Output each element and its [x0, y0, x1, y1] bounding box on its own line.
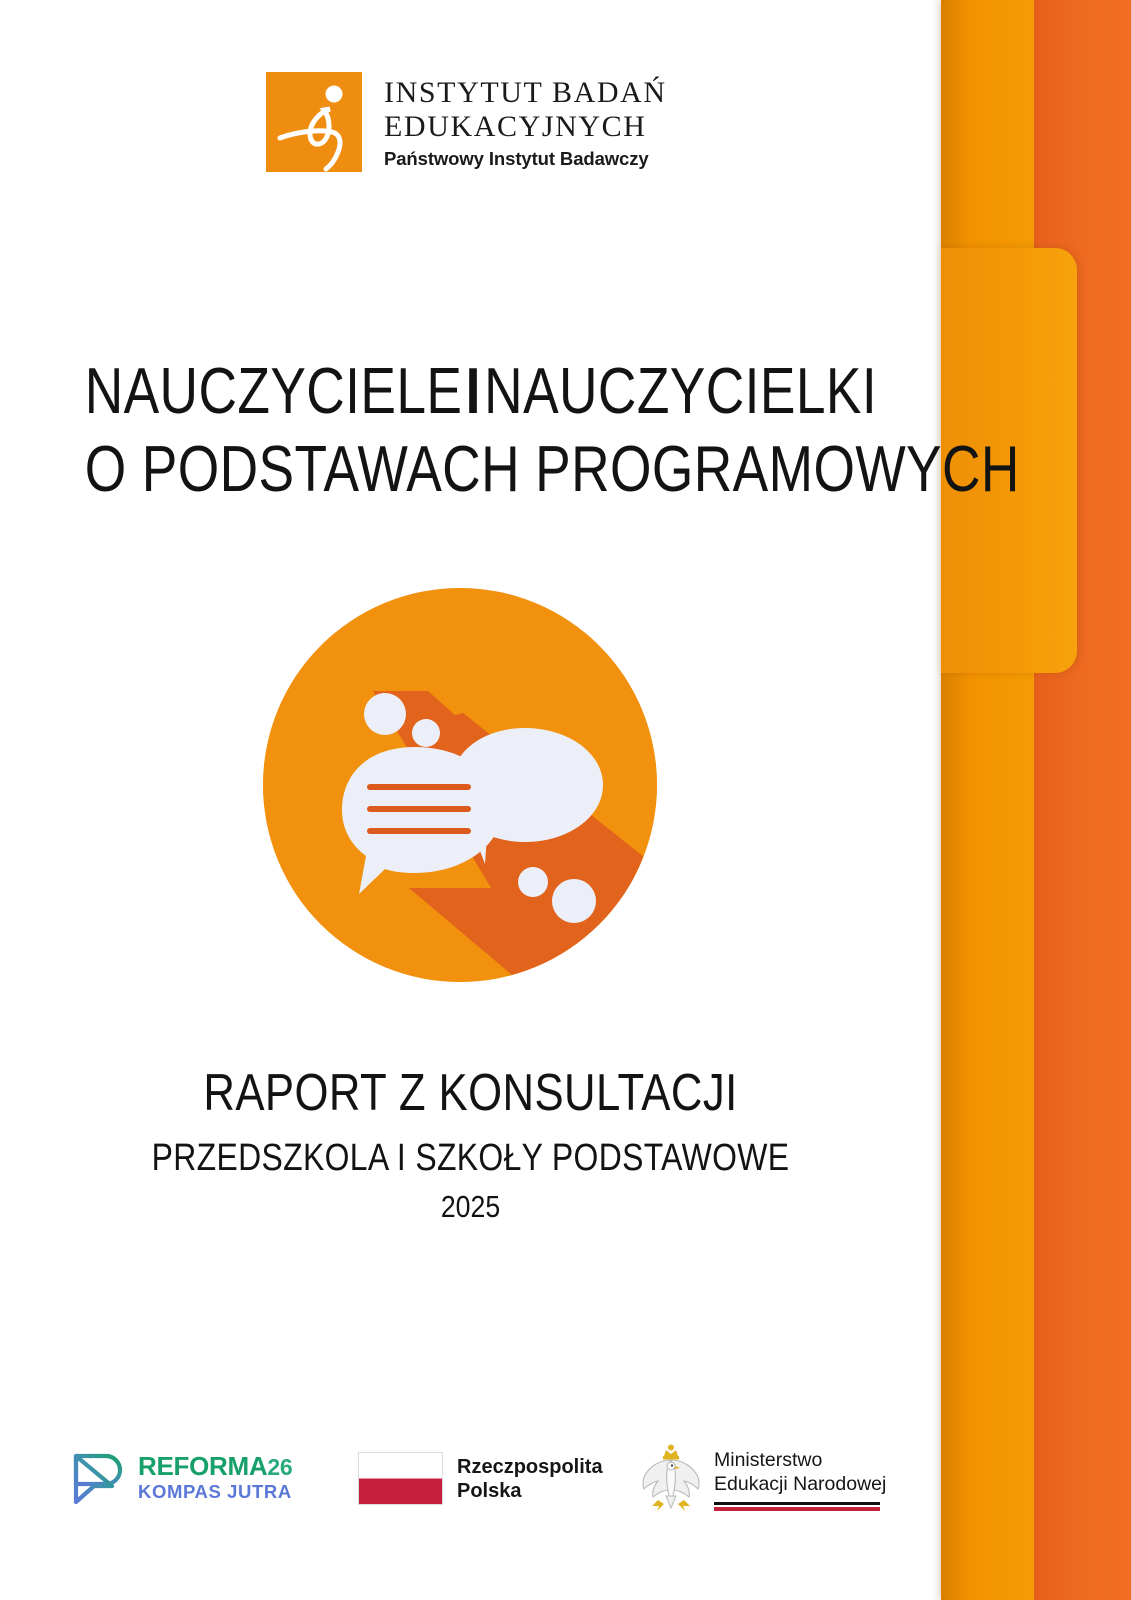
- publisher-line-3: Państwowy Instytut Badawczy: [384, 148, 667, 170]
- reforma26-wordmark: REFORMA26: [138, 1453, 292, 1481]
- ministry-underline-bars: [714, 1502, 880, 1511]
- reforma-flag-r-icon: [72, 1446, 128, 1508]
- publisher-line-2: EDUKACYJNYCH: [384, 110, 667, 144]
- ministry-line-2: Edukacji Narodowej: [714, 1472, 886, 1496]
- reforma26-tagline: KOMPAS JUTRA: [138, 1481, 292, 1502]
- title-line-1-part-1: NAUCZYCIELE: [85, 354, 463, 427]
- publisher-logo: INSTYTUT BADAŃ EDUKACYJNYCH Państwowy In…: [266, 72, 667, 172]
- ministry-text-block: Ministerstwo Edukacji Narodowej: [714, 1448, 886, 1511]
- reforma26-word: REFORMA: [138, 1451, 267, 1481]
- republic-of-poland-logo: Rzeczpospolita Polska: [358, 1452, 603, 1505]
- republic-line-1: Rzeczpospolita: [457, 1455, 603, 1479]
- subtitle-scope: PRZEDSZKOLA I SZKOŁY PODSTAWOWE: [75, 1132, 865, 1184]
- ibe-orange-square-figure-icon: [266, 72, 362, 172]
- reforma26-text: REFORMA26 KOMPAS JUTRA: [138, 1453, 292, 1502]
- polish-flag-icon: [358, 1452, 443, 1505]
- title-line-1-separator: I: [462, 354, 484, 427]
- speech-bubbles-circle-icon: [263, 588, 657, 982]
- title-line-1-part-2: NAUCZYCIELKI: [484, 354, 877, 427]
- page-title: NAUCZYCIELEINAUCZYCIELKI O PODSTAWACH PR…: [0, 352, 941, 508]
- title-line-1: NAUCZYCIELEINAUCZYCIELKI: [85, 352, 857, 430]
- publisher-logo-text: INSTYTUT BADAŃ EDUKACYJNYCH Państwowy In…: [384, 72, 667, 170]
- polish-eagle-emblem-icon: [640, 1442, 702, 1516]
- title-line-2: O PODSTAWACH PROGRAMOWYCH: [85, 430, 857, 508]
- subtitle-year: 2025: [66, 1186, 875, 1228]
- cover-page: INSTYTUT BADAŃ EDUKACYJNYCH Państwowy In…: [0, 0, 1131, 1600]
- ministry-line-1: Ministerstwo: [714, 1448, 886, 1472]
- right-amber-band: [941, 0, 1034, 1600]
- reforma26-logo: REFORMA26 KOMPAS JUTRA: [72, 1446, 292, 1508]
- reforma26-number: 26: [267, 1454, 292, 1480]
- ministry-of-education-logo: Ministerstwo Edukacji Narodowej: [640, 1442, 886, 1516]
- right-red-band: [1034, 0, 1131, 1600]
- footer-logos: REFORMA26 KOMPAS JUTRA Rzeczpospolita Po…: [62, 1432, 872, 1528]
- ministry-bar-black: [714, 1502, 880, 1505]
- publisher-line-1: INSTYTUT BADAŃ: [384, 76, 667, 110]
- republic-of-poland-text: Rzeczpospolita Polska: [457, 1455, 603, 1503]
- ministry-bar-red: [714, 1507, 880, 1511]
- subtitle-main: RAPORT Z KONSULTACJI: [75, 1062, 865, 1124]
- report-subtitle: RAPORT Z KONSULTACJI PRZEDSZKOLA I SZKOŁ…: [0, 1062, 941, 1228]
- republic-line-2: Polska: [457, 1479, 603, 1503]
